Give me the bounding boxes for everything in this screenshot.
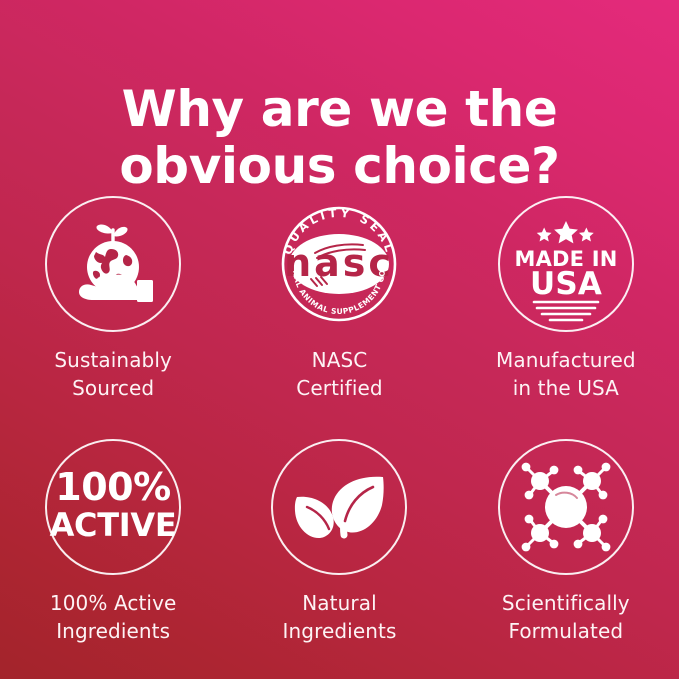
badge-circle: MADE IN USA bbox=[498, 196, 634, 332]
badge-circle bbox=[498, 439, 634, 575]
badge-caption: Scientifically Formulated bbox=[502, 589, 630, 645]
badge-caption: 100% Active Ingredients bbox=[50, 589, 177, 645]
page-title: Why are we the obvious choice? bbox=[0, 81, 679, 195]
made-in-usa-icon: MADE IN USA bbox=[510, 208, 622, 320]
molecule-icon bbox=[514, 455, 618, 559]
nasc-quality-seal-icon: nasc QUALITY SEAL NATIONAL ANIMAL bbox=[271, 196, 407, 332]
badge-caption: Sustainably Sourced bbox=[54, 346, 172, 402]
active-text: ACTIVE bbox=[50, 506, 177, 544]
badge-scientifically-formulated: Scientifically Formulated bbox=[453, 439, 679, 679]
badge-caption: NASC Certified bbox=[296, 346, 382, 402]
badge-circle bbox=[271, 439, 407, 575]
usa-text: USA bbox=[530, 266, 602, 302]
hundred-percent-text: 100% bbox=[55, 465, 170, 509]
stripes-group bbox=[534, 302, 598, 320]
badge-caption: Natural Ingredients bbox=[283, 589, 397, 645]
benefits-grid: Sustainably Sourced nasc bbox=[0, 196, 679, 679]
badge-circle: nasc QUALITY SEAL NATIONAL ANIMAL bbox=[271, 196, 407, 332]
badge-100-active: 100% ACTIVE 100% Active Ingredients bbox=[0, 439, 226, 679]
stars-group bbox=[537, 221, 594, 243]
badge-sustainably-sourced: Sustainably Sourced bbox=[0, 196, 226, 439]
badge-caption: Manufactured in the USA bbox=[496, 346, 636, 402]
hand-holding-globe-sprout-icon bbox=[63, 214, 163, 314]
badge-manufactured-in-usa: MADE IN USA Manufactured in the USA bbox=[453, 196, 679, 439]
badge-natural-ingredients: Natural Ingredients bbox=[226, 439, 452, 679]
two-leaves-icon bbox=[287, 455, 391, 559]
hundred-percent-active-icon: 100% ACTIVE bbox=[54, 462, 172, 552]
badge-nasc-certified: nasc QUALITY SEAL NATIONAL ANIMAL bbox=[226, 196, 452, 439]
badge-circle bbox=[45, 196, 181, 332]
badge-circle: 100% ACTIVE bbox=[45, 439, 181, 575]
promo-poster: Why are we the obvious choice? bbox=[0, 0, 679, 679]
